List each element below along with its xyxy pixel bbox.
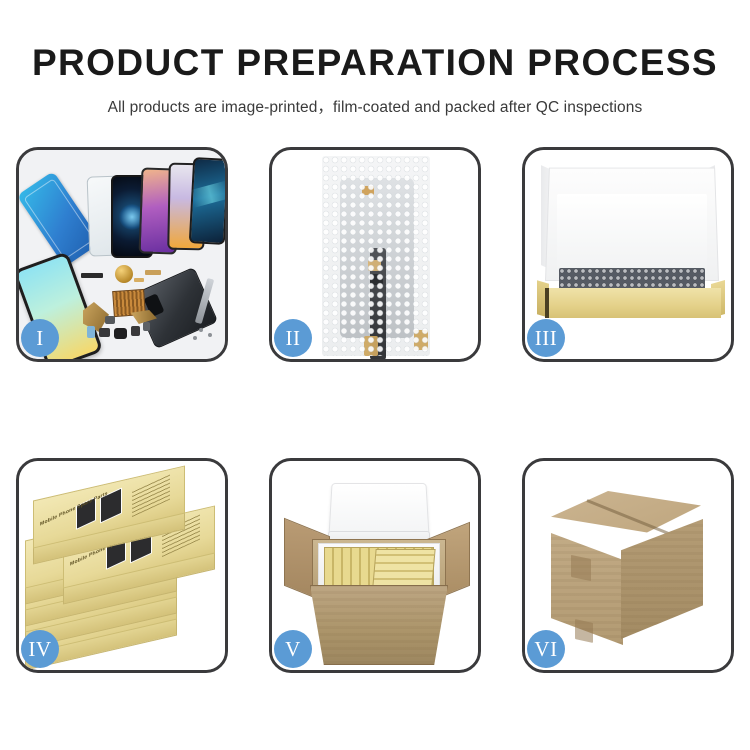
step-panel-6: VI: [522, 458, 734, 673]
part-strip-1: [81, 273, 103, 278]
small-part-2: [99, 328, 110, 337]
step-badge-5: V: [274, 630, 312, 668]
small-part-1: [87, 326, 95, 338]
packed-boxes-row-2: [372, 549, 435, 587]
part-strip-2: [145, 270, 161, 275]
carton-right-face: [621, 519, 703, 639]
poster-canvas: PRODUCT PREPARATION PROCESS All products…: [0, 0, 750, 750]
bubble-wrap-pack: [322, 156, 430, 356]
step-panel-2: II: [269, 147, 481, 362]
small-part-5: [105, 316, 115, 324]
screw-1: [199, 328, 203, 332]
screw-2: [208, 333, 212, 337]
part-strip-3: [134, 278, 144, 282]
header: PRODUCT PREPARATION PROCESS All products…: [0, 0, 750, 117]
box-front-face: [545, 288, 721, 318]
speaker-coil-icon: [115, 265, 133, 283]
corrugated-texture: [311, 586, 447, 664]
page-subtitle: All products are image-printed，film-coat…: [0, 84, 750, 117]
step-badge-2: II: [274, 319, 312, 357]
small-part-4: [131, 326, 140, 336]
bubble-texture: [322, 156, 430, 356]
small-part-3: [114, 328, 127, 339]
step-panel-5: V: [269, 458, 481, 673]
step-panel-1: I: [16, 147, 228, 362]
foam-sheet: [557, 194, 707, 270]
step-badge-4: IV: [21, 630, 59, 668]
screw-3: [193, 336, 197, 340]
page-title: PRODUCT PREPARATION PROCESS: [0, 0, 750, 84]
process-grid: I II: [16, 147, 734, 673]
phone-teal-screen: [189, 157, 225, 245]
step-badge-3: III: [527, 319, 565, 357]
step-panel-4: Mobile Phone Spare Parts Mobile Phone Sp…: [16, 458, 228, 673]
box-label-text-lines-top: [132, 474, 170, 518]
carton-front-wall: [310, 585, 448, 665]
carton-label-patch-2: [575, 619, 593, 643]
small-part-6: [143, 322, 150, 331]
step-badge-6: VI: [527, 630, 565, 668]
step-panel-3: III: [522, 147, 734, 362]
carton-label-patch-1: [571, 555, 591, 581]
step-badge-1: I: [21, 319, 59, 357]
box-label-title-top: Mobile Phone Spare Parts: [40, 491, 108, 528]
corrugated-texture-right: [621, 519, 703, 639]
